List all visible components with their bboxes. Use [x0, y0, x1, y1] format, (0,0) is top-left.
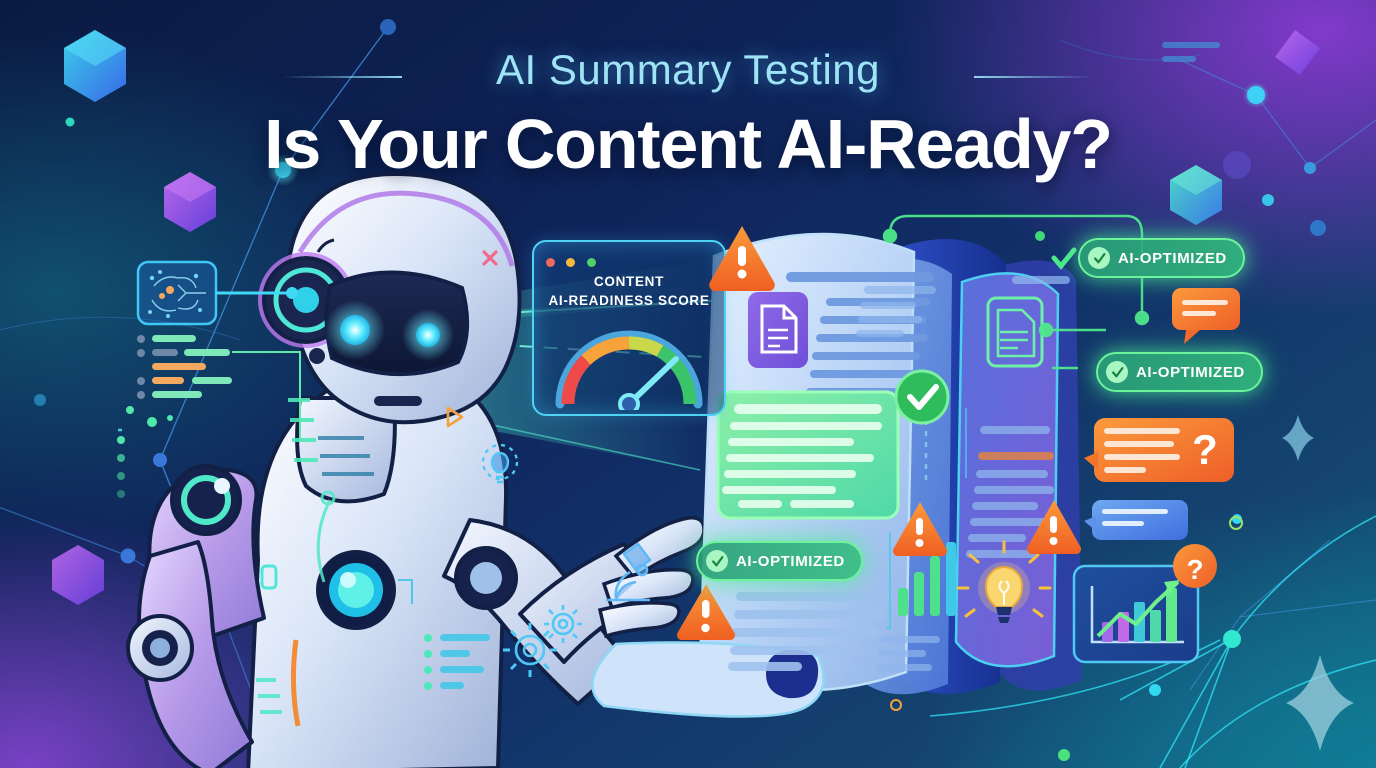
- microscope-icon: [606, 544, 650, 600]
- badge-ai-optimized-top[interactable]: AI-OPTIMIZED: [1078, 238, 1245, 278]
- lightbulb-icon: [958, 542, 1050, 623]
- window-dot-minimize[interactable]: [566, 258, 575, 267]
- badge-ai-optimized-middle[interactable]: AI-OPTIMIZED: [1096, 352, 1263, 392]
- warning-triangle-icon: [677, 584, 735, 640]
- svg-text:?: ?: [1186, 554, 1203, 585]
- score-card-title: CONTENT AI-READINESS SCORE: [534, 272, 724, 310]
- document-icon: [748, 292, 808, 368]
- chat-bubble-icon: [1084, 500, 1188, 540]
- window-dot-close[interactable]: [546, 258, 555, 267]
- close-x-icon: [484, 252, 496, 264]
- check-circle-icon: [1106, 361, 1128, 383]
- question-mark-icon: ?: [1173, 544, 1217, 588]
- play-triangle-icon: [448, 408, 462, 426]
- score-title-line2: AI-READINESS SCORE: [534, 291, 724, 310]
- document-icon-green: [988, 298, 1042, 366]
- score-title-line1: CONTENT: [534, 272, 724, 291]
- gears-icon: [503, 605, 582, 677]
- check-icon: [1054, 250, 1074, 266]
- lightbulb-outline-icon: [483, 445, 517, 482]
- page-title: Is Your Content AI-Ready?: [0, 104, 1376, 184]
- poster-canvas: CONTENT AI-READINESS SCORE: [0, 0, 1376, 768]
- bar-chart-icon: [886, 532, 956, 628]
- warning-triangle-icon: [893, 502, 947, 556]
- badge-label: AI-OPTIMIZED: [1118, 250, 1227, 267]
- chat-bubble-question-icon: ?: [1084, 418, 1234, 482]
- check-circle-icon: [896, 371, 948, 423]
- warning-triangle-icon: [1027, 500, 1081, 554]
- window-dot-maximize[interactable]: [587, 258, 596, 267]
- check-circle-icon: [706, 550, 728, 572]
- sparkle-icon: [1282, 415, 1354, 751]
- badge-label: AI-OPTIMIZED: [1136, 364, 1245, 381]
- readiness-gauge: [550, 326, 708, 410]
- highlight-block: [718, 392, 898, 518]
- growth-chart-card: [1074, 566, 1198, 662]
- svg-text:?: ?: [1192, 426, 1218, 473]
- window-controls: [546, 254, 603, 272]
- badge-label: AI-OPTIMIZED: [736, 553, 845, 570]
- bar-chart-icon: [1102, 588, 1177, 642]
- check-circle-icon: [1088, 247, 1110, 269]
- content-ai-readiness-score-card[interactable]: CONTENT AI-READINESS SCORE: [532, 240, 726, 416]
- badge-ai-optimized-doc[interactable]: AI-OPTIMIZED: [696, 541, 863, 581]
- kicker-text: AI Summary Testing: [0, 46, 1376, 94]
- chat-bubble-icon: [1172, 288, 1240, 344]
